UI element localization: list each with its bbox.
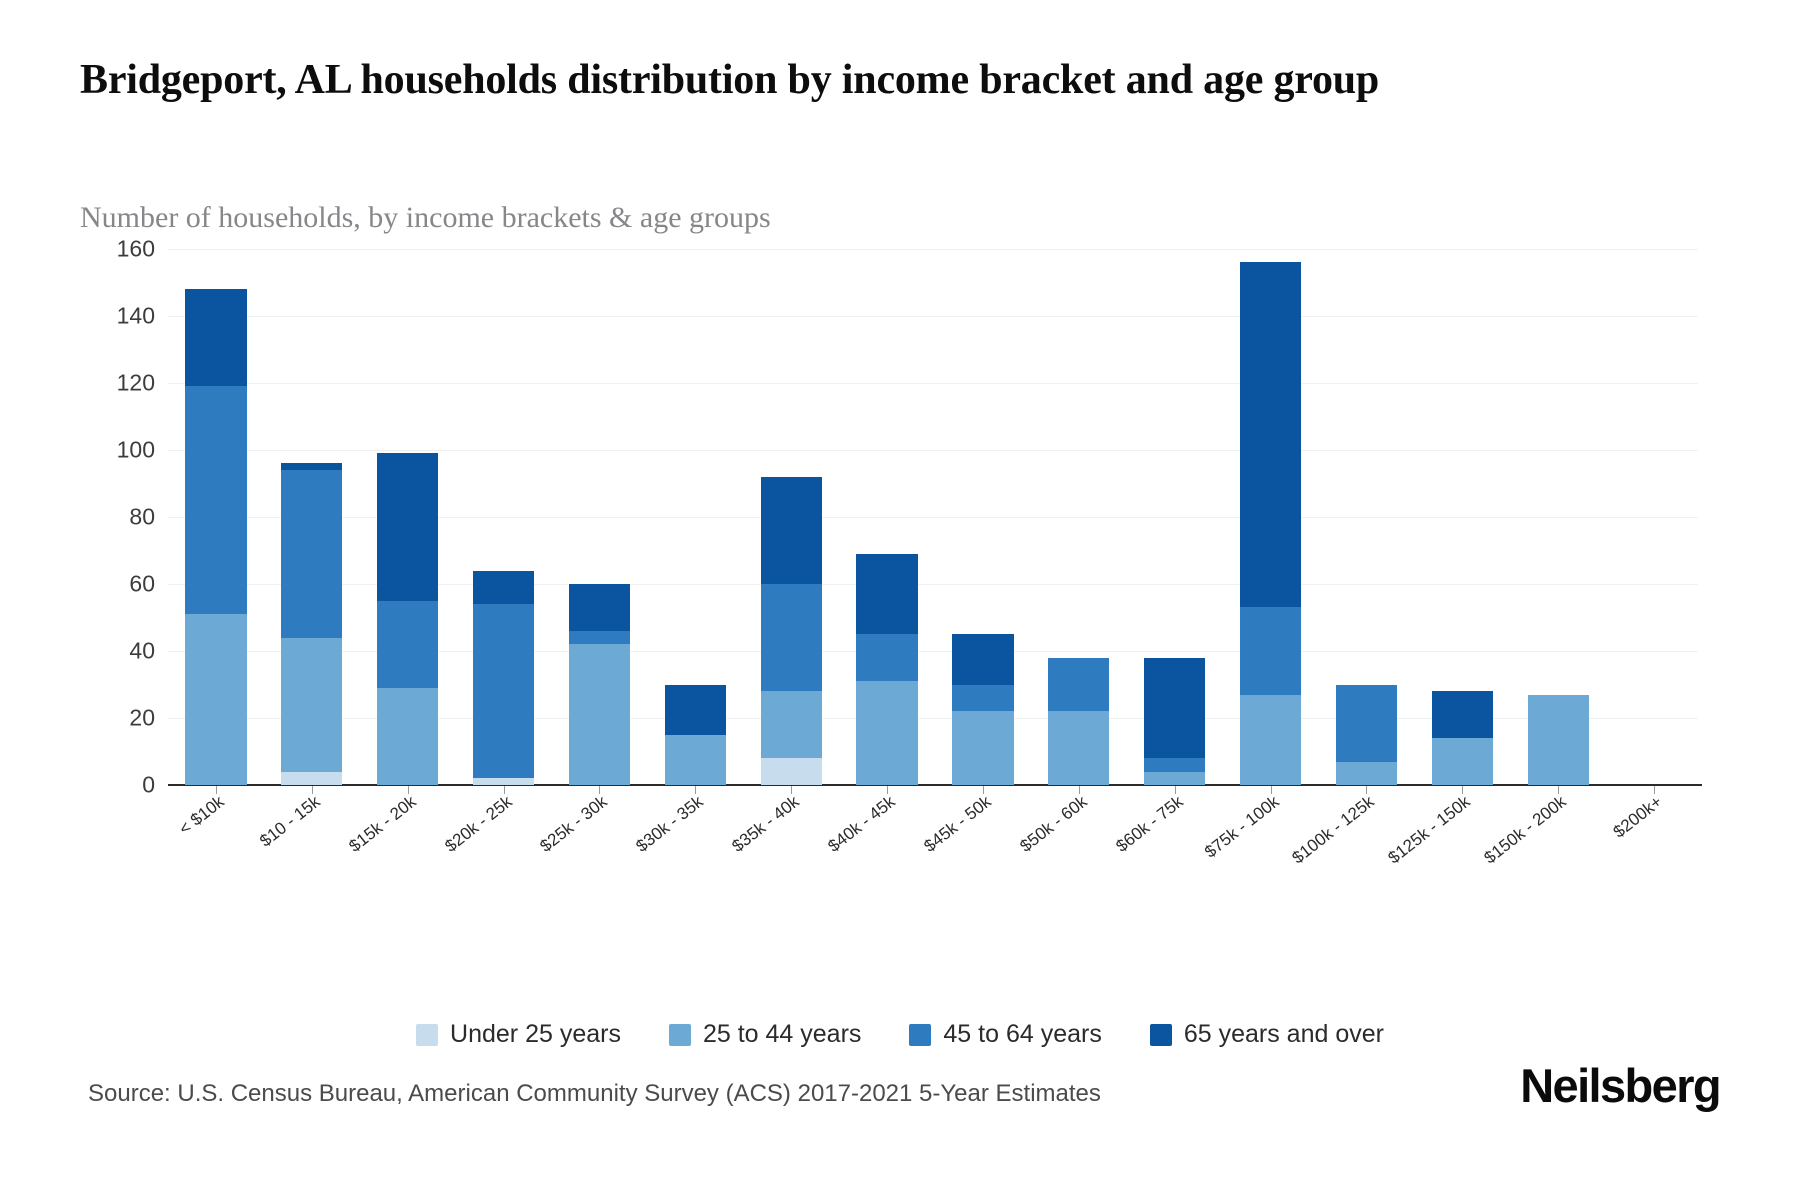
bar-segment[interactable] xyxy=(1432,738,1493,785)
bar-group[interactable] xyxy=(856,249,917,785)
bar-segment[interactable] xyxy=(952,634,1013,684)
y-axis-tick-label: 120 xyxy=(55,370,155,397)
bar-segment[interactable] xyxy=(473,778,534,785)
bar-group[interactable] xyxy=(281,249,342,785)
y-axis-tick-label: 100 xyxy=(55,437,155,464)
bar-group[interactable] xyxy=(1528,249,1589,785)
legend-swatch-icon xyxy=(1150,1024,1172,1046)
y-axis-tick-label: 160 xyxy=(55,236,155,263)
y-axis-tick-label: 20 xyxy=(55,705,155,732)
bar-segment[interactable] xyxy=(952,685,1013,712)
bar-segment[interactable] xyxy=(377,688,438,785)
bar-segment[interactable] xyxy=(281,470,342,638)
bar-segment[interactable] xyxy=(761,584,822,691)
page-title: Bridgeport, AL households distribution b… xyxy=(80,54,1680,108)
bar-stack[interactable] xyxy=(1336,685,1397,786)
bar-segment[interactable] xyxy=(185,614,246,785)
y-axis-tick-label: 140 xyxy=(55,303,155,330)
bar-segment[interactable] xyxy=(761,691,822,758)
bar-stack[interactable] xyxy=(1144,658,1205,785)
bar-segment[interactable] xyxy=(1336,685,1397,762)
bar-segment[interactable] xyxy=(665,685,726,735)
bar-segment[interactable] xyxy=(1240,607,1301,694)
legend-item[interactable]: 45 to 64 years xyxy=(909,1020,1101,1049)
brand-logo: Neilsberg xyxy=(1520,1058,1720,1113)
bar-group[interactable] xyxy=(1623,249,1684,785)
bar-stack[interactable] xyxy=(1432,691,1493,785)
bar-stack[interactable] xyxy=(856,554,917,785)
bar-segment[interactable] xyxy=(281,463,342,470)
bar-segment[interactable] xyxy=(569,644,630,785)
chart-legend: Under 25 years25 to 44 years45 to 64 yea… xyxy=(0,1020,1800,1049)
bar-segment[interactable] xyxy=(377,601,438,688)
bar-segment[interactable] xyxy=(569,584,630,631)
bar-segment[interactable] xyxy=(1240,695,1301,785)
bar-group[interactable] xyxy=(665,249,726,785)
source-note: Source: U.S. Census Bureau, American Com… xyxy=(88,1080,1101,1108)
chart-page: Bridgeport, AL households distribution b… xyxy=(0,0,1800,1200)
bar-segment[interactable] xyxy=(1144,758,1205,771)
bar-segment[interactable] xyxy=(1144,772,1205,785)
legend-label: 65 years and over xyxy=(1184,1020,1384,1049)
bar-group[interactable] xyxy=(952,249,1013,785)
bar-segment[interactable] xyxy=(856,681,917,785)
bar-segment[interactable] xyxy=(1432,691,1493,738)
bar-segment[interactable] xyxy=(856,634,917,681)
bar-segment[interactable] xyxy=(377,453,438,600)
legend-label: 45 to 64 years xyxy=(943,1020,1101,1049)
bars-container xyxy=(168,249,1702,785)
bar-segment[interactable] xyxy=(1336,762,1397,785)
bar-stack[interactable] xyxy=(1528,695,1589,785)
bar-group[interactable] xyxy=(1240,249,1301,785)
y-axis-tick-label: 80 xyxy=(55,504,155,531)
legend-label: Under 25 years xyxy=(450,1020,621,1049)
legend-item[interactable]: 65 years and over xyxy=(1150,1020,1384,1049)
bar-segment[interactable] xyxy=(1240,262,1301,607)
bar-stack[interactable] xyxy=(1048,658,1109,785)
bar-segment[interactable] xyxy=(569,631,630,644)
legend-swatch-icon xyxy=(669,1024,691,1046)
bar-segment[interactable] xyxy=(281,638,342,772)
bar-segment[interactable] xyxy=(473,571,534,605)
bar-group[interactable] xyxy=(1144,249,1205,785)
bar-stack[interactable] xyxy=(665,685,726,786)
bar-group[interactable] xyxy=(1048,249,1109,785)
legend-item[interactable]: 25 to 44 years xyxy=(669,1020,861,1049)
y-axis-tick-label: 40 xyxy=(55,638,155,665)
bar-group[interactable] xyxy=(761,249,822,785)
bar-group[interactable] xyxy=(473,249,534,785)
bar-group[interactable] xyxy=(377,249,438,785)
bar-stack[interactable] xyxy=(952,634,1013,785)
bar-stack[interactable] xyxy=(473,571,534,785)
bar-group[interactable] xyxy=(569,249,630,785)
legend-swatch-icon xyxy=(909,1024,931,1046)
bar-segment[interactable] xyxy=(761,758,822,785)
bar-group[interactable] xyxy=(185,249,246,785)
bar-segment[interactable] xyxy=(1528,695,1589,785)
bar-group[interactable] xyxy=(1336,249,1397,785)
bar-segment[interactable] xyxy=(761,477,822,584)
legend-swatch-icon xyxy=(416,1024,438,1046)
legend-item[interactable]: Under 25 years xyxy=(416,1020,621,1049)
bar-segment[interactable] xyxy=(665,735,726,785)
bar-stack[interactable] xyxy=(281,463,342,785)
bar-stack[interactable] xyxy=(185,289,246,785)
bar-stack[interactable] xyxy=(569,584,630,785)
bar-segment[interactable] xyxy=(856,554,917,634)
y-axis-tick-label: 60 xyxy=(55,571,155,598)
bar-segment[interactable] xyxy=(473,604,534,778)
bar-segment[interactable] xyxy=(1048,711,1109,785)
bar-segment[interactable] xyxy=(1048,658,1109,712)
bar-stack[interactable] xyxy=(761,477,822,785)
legend-label: 25 to 44 years xyxy=(703,1020,861,1049)
bar-group[interactable] xyxy=(1432,249,1493,785)
bar-segment[interactable] xyxy=(1144,658,1205,759)
y-axis-tick-label: 0 xyxy=(55,772,155,799)
bar-stack[interactable] xyxy=(377,453,438,785)
bar-segment[interactable] xyxy=(952,711,1013,785)
bar-stack[interactable] xyxy=(1240,262,1301,785)
chart-subtitle: Number of households, by income brackets… xyxy=(80,200,1580,236)
bar-segment[interactable] xyxy=(281,772,342,785)
bar-segment[interactable] xyxy=(185,386,246,614)
bar-segment[interactable] xyxy=(185,289,246,386)
